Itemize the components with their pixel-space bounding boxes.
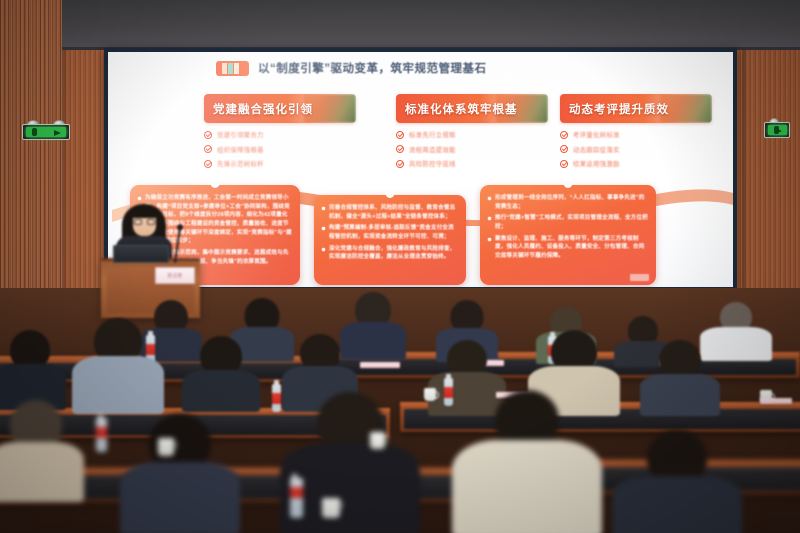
column-check-list: 标准先行立规矩 流程再造提效能 风险防控守底线 — [396, 130, 548, 168]
bullet-item: 构建“预算编制-多层审核-追踪反馈”资金支付全流程管控机制，实现资金流转全环节可… — [322, 224, 458, 241]
column-header: 党建融合强化引领 — [204, 94, 356, 123]
bullet-dot-icon — [322, 207, 325, 210]
attendee — [182, 336, 260, 410]
check-circle-icon — [396, 131, 404, 139]
slide-title-row: 以“制度引擎”驱动变革，筑牢规范管理基石 — [216, 60, 487, 76]
slide-page-tag — [630, 274, 649, 281]
ceiling-band — [62, 0, 800, 50]
bullet-dot-icon — [488, 238, 491, 241]
attendee-body — [120, 462, 240, 533]
water-bottle — [96, 418, 107, 452]
check-circle-icon — [396, 160, 404, 168]
running-man-exit-icon — [768, 125, 787, 135]
attendee-body — [182, 370, 260, 412]
bullet-dot-icon — [488, 217, 491, 220]
bullet-dot-icon — [322, 248, 325, 251]
check-item: 先锋示范树标杆 — [204, 159, 356, 168]
document-sheet — [760, 398, 792, 404]
slide-column-2: 标准化体系筑牢根基 标准先行立规矩 流程再造提效能 — [396, 94, 548, 174]
attendee-body — [452, 440, 602, 533]
check-circle-icon — [204, 160, 212, 168]
projected-slide: 以“制度引擎”驱动变革，筑牢规范管理基石 — [108, 52, 733, 287]
bullet-item: 聚焦设计、监理、施工、服务等环节，制定第三方考核制度，强化人员履约、设备投入、质… — [488, 235, 648, 261]
open-laptop — [113, 245, 169, 263]
check-item: 组织保障强根基 — [204, 145, 356, 154]
slide-column-1: 党建融合强化引领 党建引领聚合力 组织保障强根基 先 — [204, 94, 356, 174]
column-header-label: 标准化体系筑牢根基 — [405, 94, 518, 123]
paper-cup — [322, 498, 340, 518]
bullet-item: 深化党建与合规融合，强化廉政教育与风险排查，实现廉洁防控全覆盖，廉洁从业理念贯穿… — [322, 245, 458, 262]
check-item: 考评量化树标准 — [560, 130, 712, 139]
check-item: 结果运用强激励 — [560, 159, 712, 168]
emergency-exit-sign — [22, 120, 70, 140]
content-panel-2: 完善合规管控体系、风险防控与监督、教育会管总机制，健全“源头+过程+结果”全链条… — [314, 195, 466, 285]
check-circle-icon — [204, 145, 212, 153]
panel-notch — [386, 192, 395, 198]
attendee-body — [0, 442, 84, 502]
exit-sign-plate — [22, 124, 70, 140]
attendee — [612, 430, 742, 533]
bullet-item: 形成管理到一线全岗位序列，“人人扛指标、事事争先进”的竞赛生态； — [488, 194, 648, 211]
paper-cup — [158, 438, 174, 456]
content-panel-3: 形成管理到一线全岗位序列，“人人扛指标、事事争先进”的竞赛生态； 推行“党建+智… — [480, 185, 656, 285]
speaker-glasses-icon — [134, 219, 155, 225]
conference-room-scene: 以“制度引擎”驱动变革，筑牢规范管理基石 — [0, 0, 800, 533]
paper-cup — [424, 388, 436, 401]
column-check-list: 党建引领聚合力 组织保障强根基 先锋示范树标杆 — [204, 130, 356, 168]
check-circle-icon — [560, 145, 568, 153]
slide-column-3: 动态考评提升质效 考评量化树标准 动态跟踪促落实 结 — [560, 94, 712, 174]
check-circle-icon — [204, 131, 212, 139]
document-sheet — [360, 362, 400, 368]
slide-decor-icon — [216, 61, 249, 76]
column-header-label: 动态考评提升质效 — [569, 94, 669, 123]
column-header-label: 党建融合强化引领 — [213, 94, 313, 123]
check-item: 标准先行立规矩 — [396, 130, 548, 139]
emergency-exit-sign — [764, 118, 794, 138]
podium-nameplate: 发言席 — [155, 267, 195, 284]
column-header: 标准化体系筑牢根基 — [396, 94, 548, 123]
check-item: 风险防控守底线 — [396, 159, 548, 168]
bullet-item: 推行“党建+智慧”工地模式，实现项目管理全流程、全方位把控； — [488, 214, 648, 231]
bullet-item: 完善合规管控体系、风险防控与监督、教育会管总机制，健全“源头+过程+结果”全链条… — [322, 204, 458, 221]
bullet-dot-icon — [322, 227, 325, 230]
panel-notch — [211, 182, 220, 188]
page-title: 以“制度引擎”驱动变革，筑牢规范管理基石 — [258, 60, 487, 76]
running-man-exit-icon — [26, 127, 66, 137]
bullet-dot-icon — [488, 197, 491, 200]
check-item: 流程再造提效能 — [396, 145, 548, 154]
attendee — [0, 400, 84, 500]
attendee — [120, 414, 240, 533]
exit-sign-plate — [764, 122, 790, 138]
column-header: 动态考评提升质效 — [560, 94, 712, 123]
attendee-body — [72, 356, 164, 414]
panel-notch — [564, 182, 573, 188]
check-circle-icon — [396, 145, 404, 153]
check-item: 动态跟踪促落实 — [560, 145, 712, 154]
column-check-list: 考评量化树标准 动态跟踪促落实 结果运用强激励 — [560, 130, 712, 168]
paper-cup — [370, 432, 385, 449]
attendee — [72, 318, 164, 412]
attendee-body — [612, 476, 742, 533]
check-circle-icon — [560, 131, 568, 139]
speaker-fringe — [131, 206, 158, 218]
check-circle-icon — [560, 160, 568, 168]
attendee — [640, 340, 720, 412]
attendee-body — [640, 374, 720, 416]
wall-left-section — [0, 0, 64, 300]
water-bottle — [290, 478, 303, 518]
check-item: 党建引领聚合力 — [204, 130, 356, 139]
projection-screen-frame: 以“制度引擎”驱动变革，筑牢规范管理基石 — [104, 48, 737, 291]
attendee — [452, 390, 602, 533]
attendee — [0, 330, 66, 408]
